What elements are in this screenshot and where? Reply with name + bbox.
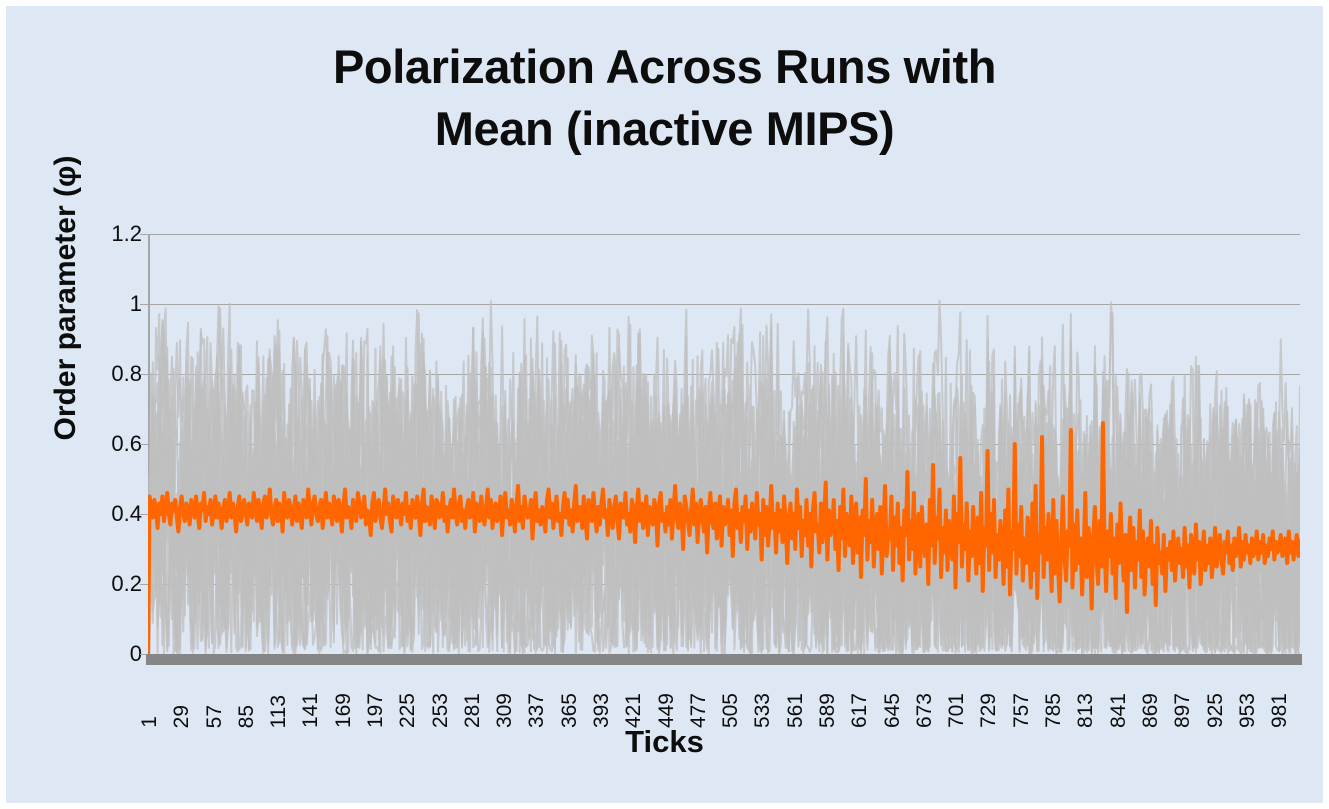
x-axis-tick-label: 729 (977, 693, 1001, 728)
series-canvas (148, 234, 1300, 655)
x-axis-tick-label: 477 (687, 693, 711, 728)
x-axis-tick-label: 337 (525, 693, 549, 728)
x-axis-tick-label: 225 (396, 693, 420, 728)
x-axis-tick-label: 981 (1268, 693, 1292, 728)
x-axis-tick-label: 897 (1171, 693, 1195, 728)
x-axis-tick-label: 533 (751, 693, 775, 728)
x-axis-tick-label: 673 (913, 693, 937, 728)
x-axis-tick-label: 841 (1107, 693, 1131, 728)
x-axis-tick-labels: 1295785113141169197225253281309337365393… (148, 666, 1300, 728)
y-axis-tick-mark (140, 584, 148, 585)
y-axis-tick-label: 0.4 (72, 501, 142, 527)
y-axis-tick-label: 0.2 (72, 571, 142, 597)
y-axis-tick-label: 0 (72, 641, 142, 667)
x-axis-tick-label: 281 (461, 693, 485, 728)
x-axis-tick-label: 589 (816, 693, 840, 728)
x-axis-tick-label: 701 (945, 693, 969, 728)
x-axis-tick-label: 869 (1139, 693, 1163, 728)
plot-area (148, 234, 1300, 654)
y-axis-tick-label: 1 (72, 291, 142, 317)
y-axis-tick-mark (140, 304, 148, 305)
y-axis-tick-mark (140, 514, 148, 515)
x-axis-tick-label: 617 (848, 693, 872, 728)
x-axis-tick-label: 813 (1074, 693, 1098, 728)
x-axis-tick-label: 309 (493, 693, 517, 728)
x-axis-tick-label: 365 (558, 693, 582, 728)
x-axis-tick-label: 113 (267, 695, 291, 728)
chart-title: Polarization Across Runs with Mean (inac… (6, 36, 1323, 160)
y-axis-tick-label: 1.2 (72, 221, 142, 247)
x-axis-tick-label: 561 (784, 693, 808, 728)
x-axis-tick-label: 953 (1236, 693, 1260, 728)
x-axis-tick-label: 785 (1042, 693, 1066, 728)
x-axis-tick-label: 253 (429, 693, 453, 728)
y-axis-tick-mark (140, 234, 148, 235)
chart-title-line-2: Mean (inactive MIPS) (6, 98, 1323, 160)
y-axis-tick-mark (140, 444, 148, 445)
chart-title-line-1: Polarization Across Runs with (6, 36, 1323, 98)
y-axis-tick-label: 0.6 (72, 431, 142, 457)
y-axis-tick-mark (140, 374, 148, 375)
x-axis-tick-label: 421 (622, 693, 646, 728)
x-axis-tick-label: 757 (1010, 693, 1034, 728)
x-axis-tick-label: 197 (364, 693, 388, 728)
x-axis-line (146, 654, 1302, 665)
x-axis-tick-label: 141 (299, 693, 323, 728)
x-axis-tick-label: 505 (719, 693, 743, 728)
x-axis-tick-label: 925 (1204, 693, 1228, 728)
x-axis-title: Ticks (6, 724, 1323, 760)
x-axis-tick-label: 449 (655, 693, 679, 728)
x-axis-tick-label: 645 (881, 693, 905, 728)
x-axis-tick-label: 393 (590, 693, 614, 728)
chart-figure: Polarization Across Runs with Mean (inac… (6, 6, 1323, 803)
x-axis-tick-label: 169 (332, 693, 356, 728)
y-axis-tick-label: 0.8 (72, 361, 142, 387)
